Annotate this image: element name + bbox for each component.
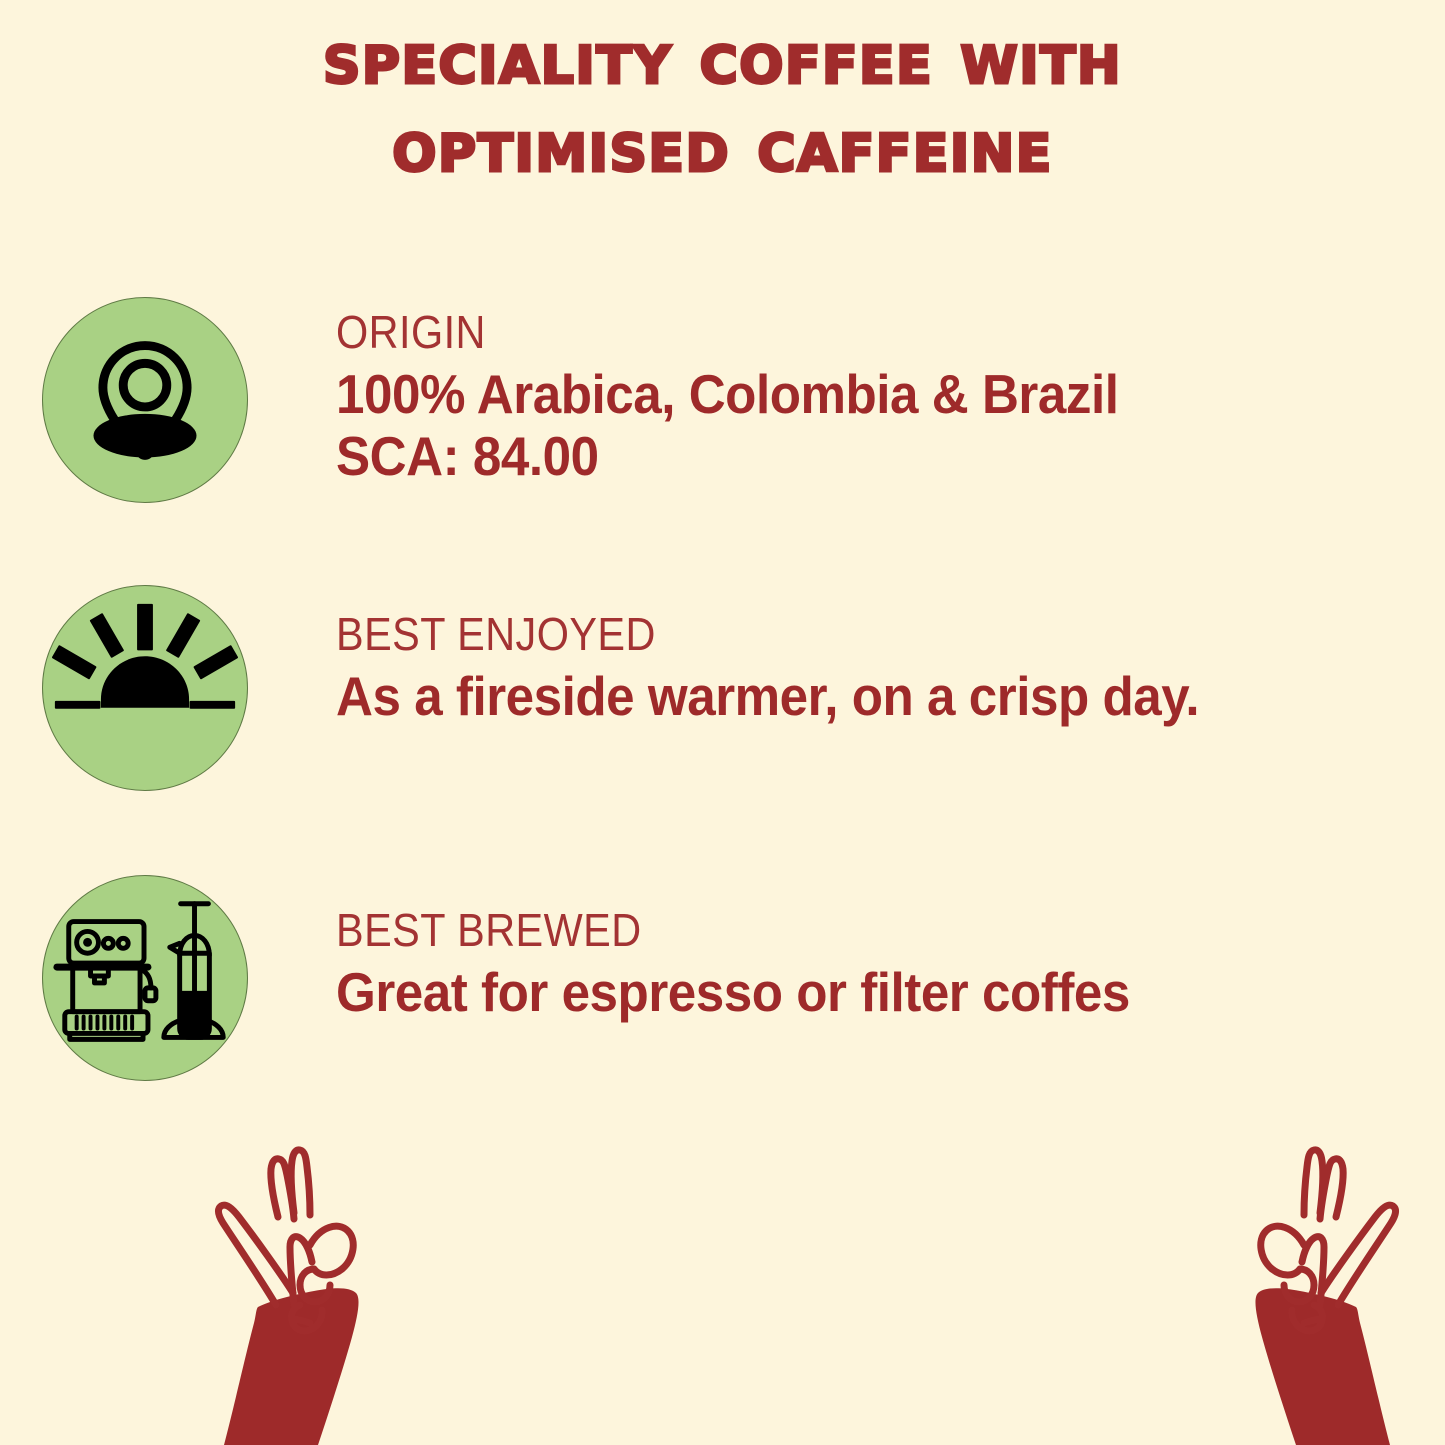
best-brewed-text-block: BEST BREWED Great for espresso or filter… [336,875,1190,1023]
espresso-machine-french-press-icon [43,875,247,1081]
feature-row-origin: ORIGIN 100% Arabica, Colombia & Brazil S… [42,297,1177,503]
location-pin-icon [43,297,247,503]
ok-hand-left-illustration [196,1105,426,1445]
poster-canvas: Speciality Coffee with Optimised Caffein… [0,0,1445,1445]
best-brewed-value: Great for espresso or filter coffes [336,961,1130,1023]
origin-value-1: 100% Arabica, Colombia & Brazil [336,363,1118,425]
sunrise-icon [43,585,247,791]
ok-hand-right-illustration [1188,1105,1418,1445]
best-brewed-icon-badge [42,875,248,1081]
origin-text-block: ORIGIN 100% Arabica, Colombia & Brazil S… [336,297,1177,487]
page-title: Speciality Coffee with Optimised Caffein… [0,14,1445,190]
best-enjoyed-text-block: BEST ENJOYED As a fireside warmer, on a … [336,585,1264,727]
feature-row-best-enjoyed: BEST ENJOYED As a fireside warmer, on a … [42,585,1264,791]
best-brewed-label: BEST BREWED [336,903,1104,957]
origin-value-2: SCA: 84.00 [336,425,1118,487]
origin-icon-badge [42,297,248,503]
best-enjoyed-value: As a fireside warmer, on a crisp day. [336,665,1199,727]
title-line-2: Optimised Caffeine [0,102,1445,190]
feature-row-best-brewed: BEST BREWED Great for espresso or filter… [42,875,1190,1081]
origin-label: ORIGIN [336,305,1093,359]
best-enjoyed-label: BEST ENJOYED [336,607,1171,661]
title-line-1: Speciality Coffee with [0,14,1445,102]
best-enjoyed-icon-badge [42,585,248,791]
